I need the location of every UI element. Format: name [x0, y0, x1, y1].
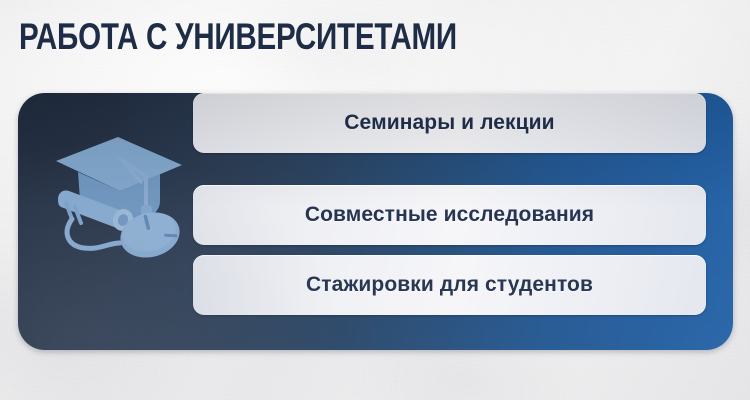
list-item-label: Совместные исследования — [305, 203, 594, 227]
universities-card: Совместные исследования Стажировки для с… — [18, 93, 733, 350]
page-title: РАБОТА С УНИВЕРСИТЕТАМИ — [19, 17, 457, 57]
list-item[interactable]: Совместные исследования — [193, 185, 706, 245]
list-item-label: Стажировки для студентов — [306, 273, 593, 297]
list-item[interactable]: Семинары и лекции — [193, 93, 706, 153]
graduation-cap-diploma-mouse-icon — [42, 115, 194, 265]
list-item[interactable]: Стажировки для студентов — [193, 255, 706, 315]
list-item-label: Семинары и лекции — [344, 111, 554, 135]
slide-canvas: РАБОТА С УНИВЕРСИТЕТАМИ — [0, 0, 750, 400]
